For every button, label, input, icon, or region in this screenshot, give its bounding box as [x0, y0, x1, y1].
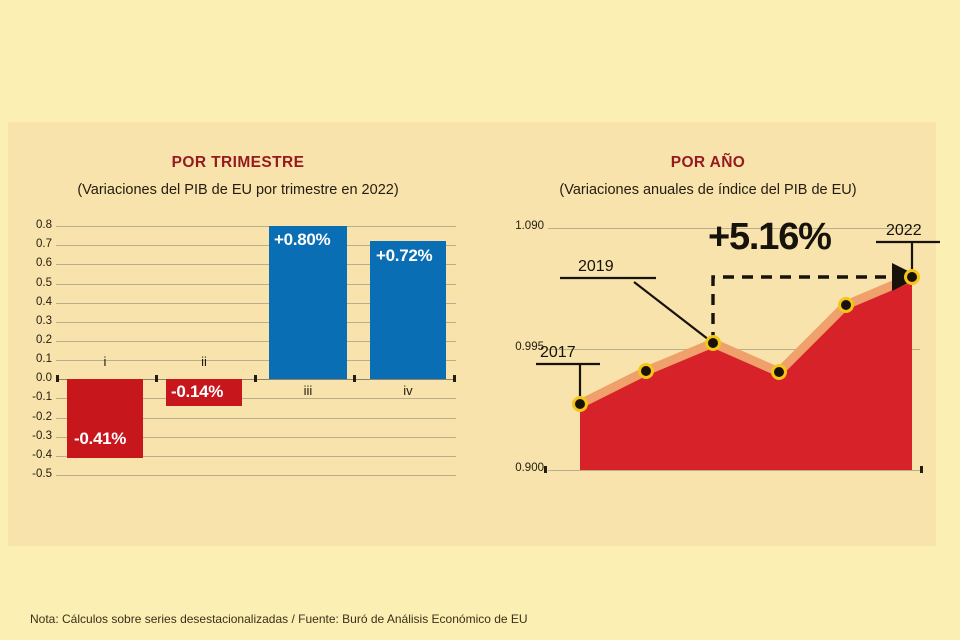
- annual-chart-subtitle: (Variaciones anuales de índice del PIB d…: [480, 182, 936, 198]
- annual-plot-area: 1.090 0.995 0.900: [548, 218, 920, 470]
- category-label-iv: iv: [370, 383, 446, 398]
- annotation-label-2022: 2022: [886, 222, 922, 240]
- data-point-2018[interactable]: [640, 365, 653, 378]
- ytick-label-0.4: 0.4: [12, 297, 52, 309]
- data-point-2020[interactable]: [773, 366, 786, 379]
- axis-tick-2: [254, 375, 257, 382]
- data-point-2017[interactable]: [574, 398, 587, 411]
- quarterly-plot-area: 0.8 0.7 0.6 0.5 0.4 0.3 0.2 0.1 0.0 -0.1…: [56, 226, 456, 475]
- ytick-label-0.2: 0.2: [12, 335, 52, 347]
- area-fill-shape: [580, 277, 912, 470]
- ytick-label-0.0: 0.0: [12, 373, 52, 385]
- ytick-label--0.3: -0.3: [12, 431, 52, 443]
- ytick-label--0.4: -0.4: [12, 450, 52, 462]
- bar-value-q3: +0.80%: [274, 230, 330, 250]
- data-point-2019[interactable]: [707, 337, 720, 350]
- ytick-label--0.5: -0.5: [12, 469, 52, 481]
- ytick-label-0.995: 0.995: [492, 342, 544, 354]
- axis-tick-right: [920, 466, 923, 473]
- bar-value-q1: -0.41%: [74, 429, 126, 449]
- axis-tick-4: [453, 375, 456, 382]
- chart-footnote: Nota: Cálculos sobre series desestaciona…: [30, 612, 528, 626]
- data-point-2021[interactable]: [840, 299, 853, 312]
- leader-line-2019: [560, 278, 713, 343]
- infographic-root: POR TRIMESTRE (Variaciones del PIB de EU…: [0, 0, 960, 640]
- axis-tick-left: [544, 466, 547, 473]
- data-point-2022[interactable]: [906, 271, 919, 284]
- axis-tick-1: [155, 375, 158, 382]
- ytick-label-1.090: 1.090: [492, 221, 544, 233]
- ytick-label-0.900: 0.900: [492, 463, 544, 475]
- growth-callout-value: +5.16%: [708, 216, 831, 259]
- ytick-label--0.1: -0.1: [12, 392, 52, 404]
- category-label-i: i: [67, 354, 143, 369]
- gridline-0.8: [56, 226, 456, 227]
- annotation-label-2017: 2017: [540, 344, 576, 362]
- ytick-label-0.5: 0.5: [12, 278, 52, 290]
- ytick-label-0.1: 0.1: [12, 354, 52, 366]
- gridline--0.5: [56, 475, 456, 476]
- ytick-label-0.3: 0.3: [12, 316, 52, 328]
- category-label-iii: iii: [269, 383, 347, 398]
- quarterly-bar-chart: POR TRIMESTRE (Variaciones del PIB de EU…: [8, 122, 468, 546]
- quarterly-chart-title: POR TRIMESTRE: [8, 154, 468, 172]
- ytick-label-0.8: 0.8: [12, 220, 52, 232]
- bar-value-q2: -0.14%: [166, 381, 228, 405]
- ytick-label-0.7: 0.7: [12, 239, 52, 251]
- ytick-label-0.6: 0.6: [12, 258, 52, 270]
- axis-tick-3: [353, 375, 356, 382]
- annual-area-chart: POR AÑO (Variaciones anuales de índice d…: [480, 122, 936, 546]
- annual-chart-title: POR AÑO: [480, 154, 936, 172]
- category-label-ii: ii: [166, 354, 242, 369]
- quarterly-chart-subtitle: (Variaciones del PIB de EU por trimestre…: [8, 182, 468, 198]
- axis-tick-0: [56, 375, 59, 382]
- annotation-label-2019: 2019: [578, 258, 614, 276]
- bar-value-q4: +0.72%: [376, 246, 432, 266]
- ytick-label--0.2: -0.2: [12, 412, 52, 424]
